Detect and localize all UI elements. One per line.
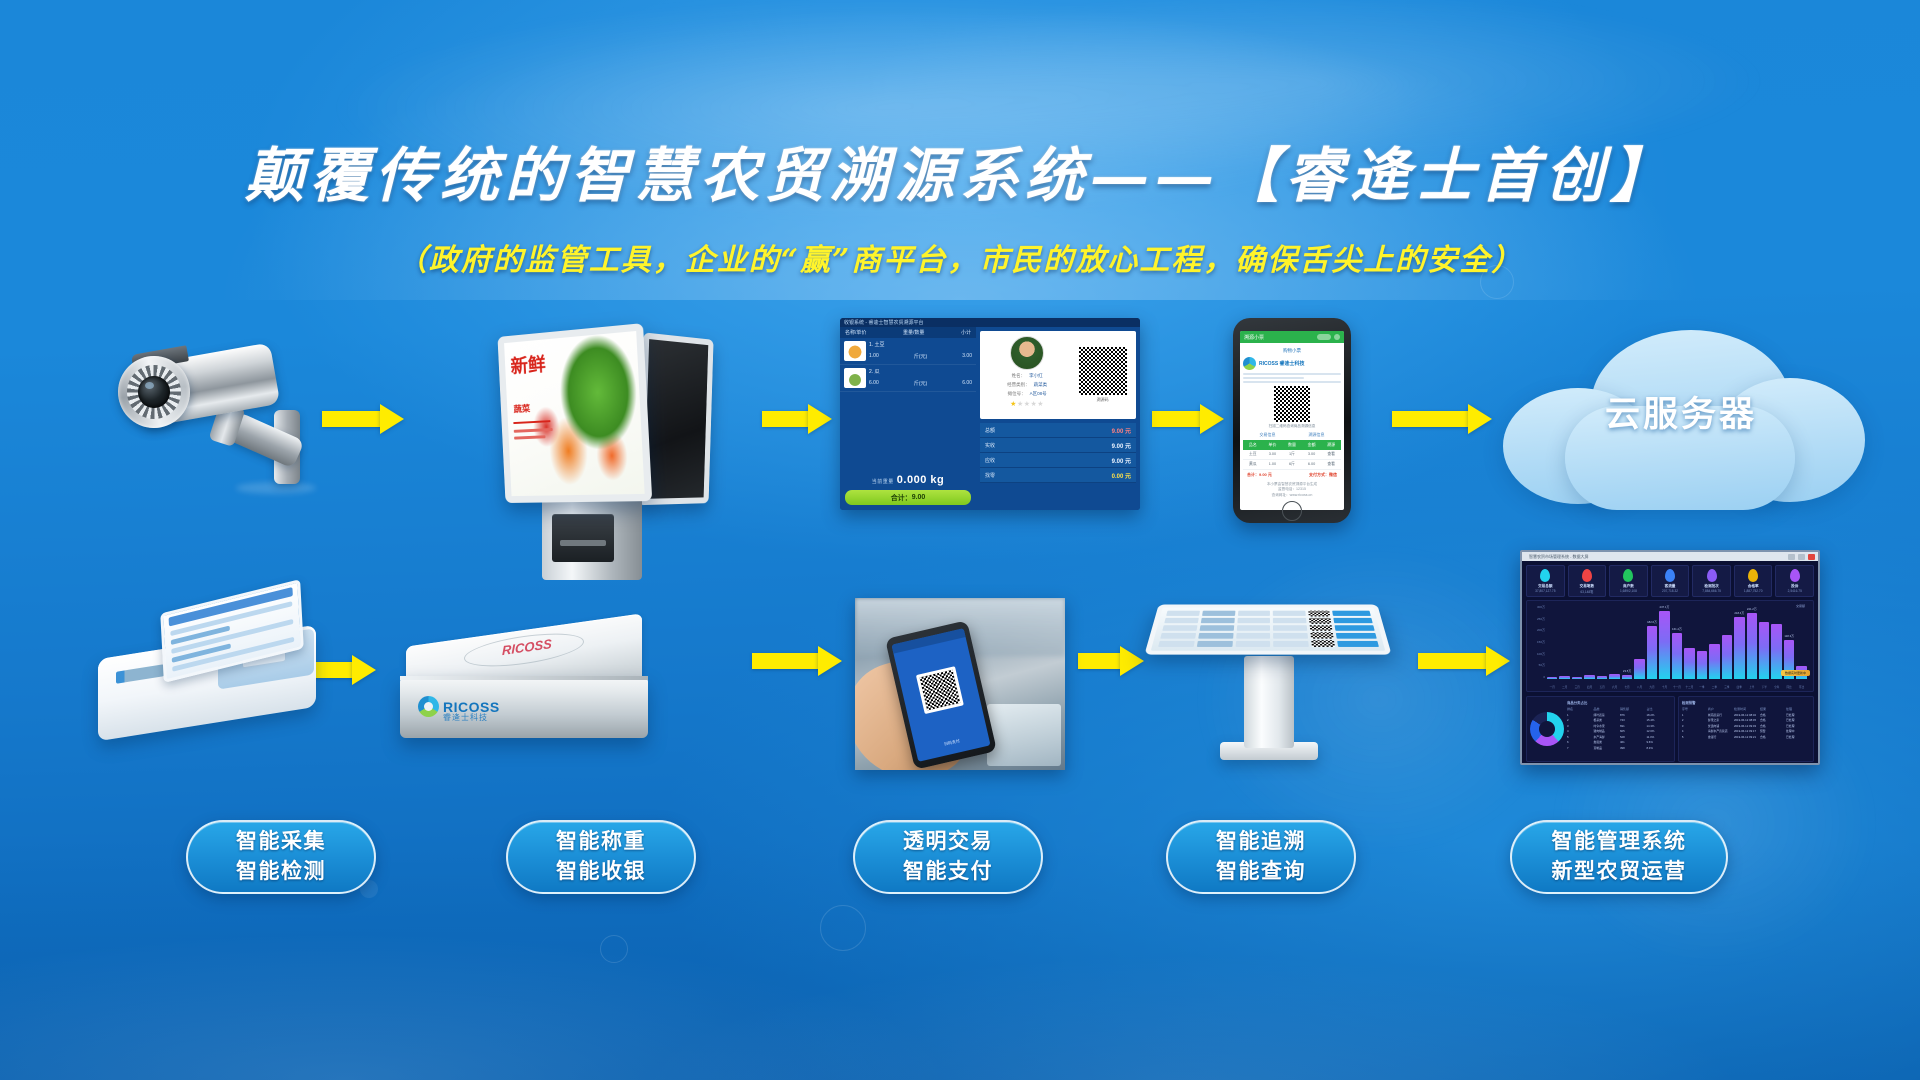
chart-bar bbox=[1559, 676, 1569, 679]
payment-qr-wrap bbox=[916, 666, 964, 714]
info-line bbox=[1243, 373, 1341, 375]
td-qty: 6斤 bbox=[1282, 460, 1302, 469]
table-cell: 合格 bbox=[1760, 724, 1784, 728]
field-label: 姓名： bbox=[1012, 373, 1026, 379]
td-name: 黄瓜 bbox=[1243, 460, 1263, 469]
vendor-avatar bbox=[1010, 336, 1044, 370]
x-tick: 九月 bbox=[1647, 685, 1657, 689]
stage-label-transaction: 透明交易 智能支付 bbox=[853, 820, 1043, 894]
col-price: 小计 bbox=[961, 329, 971, 336]
arrow-head bbox=[808, 404, 832, 434]
item-qty: 1.00 bbox=[869, 353, 879, 360]
stat-bulb-icon bbox=[1748, 569, 1758, 582]
x-tick: 十二月 bbox=[1684, 685, 1694, 689]
payment-qr-code bbox=[920, 670, 961, 711]
receipt-info-lines bbox=[1243, 373, 1341, 383]
y-tick: 250万 bbox=[1537, 617, 1545, 621]
pos-summary-rows: 总额 9.00 元 实收 9.00 元 应收 9.00 元 找零 0.00 元 bbox=[980, 423, 1136, 483]
table-cell: 1 bbox=[1567, 713, 1591, 717]
scale-brand-name-cn: 睿逄士科技 bbox=[443, 712, 488, 723]
table-row: 1绿叶蔬菜87618.2% bbox=[1567, 713, 1671, 717]
summary-value: 9.00 元 bbox=[1112, 441, 1131, 450]
weight-label: 当前重量 bbox=[872, 479, 894, 485]
cart-row[interactable]: 1. 土豆 1.00 斤(元) 3.00 bbox=[840, 338, 976, 365]
arrow-head bbox=[818, 646, 842, 676]
table-row: 1城南蔬菜行2019-06-12 08:32合格已处理 bbox=[1682, 713, 1810, 717]
chart-y-axis: 300万 250万 200万 150万 100万 50万 0 bbox=[1529, 605, 1545, 679]
info-line bbox=[1243, 381, 1341, 383]
tab-transaction[interactable]: 交易信息 bbox=[1260, 432, 1276, 438]
table-cell: 2 bbox=[1567, 718, 1591, 722]
app-header-bar: 溯源小票 bbox=[1240, 331, 1344, 343]
chart-bar bbox=[1759, 622, 1769, 679]
chart-bar: 161.2万 bbox=[1672, 633, 1682, 679]
table-row: 3时令水果69114.3% bbox=[1567, 724, 1671, 728]
x-tick: 下半 bbox=[1759, 685, 1769, 689]
x-tick: 六月 bbox=[1609, 685, 1619, 689]
y-tick: 100万 bbox=[1537, 652, 1545, 656]
bar-value-label: 182.6万 bbox=[1647, 620, 1657, 624]
arrow-scale-to-payment bbox=[752, 646, 842, 676]
category-donut-chart bbox=[1530, 712, 1564, 746]
item-thumbnail bbox=[844, 341, 866, 361]
kiosk-button[interactable] bbox=[1333, 618, 1372, 623]
app-body: 购物小票 RICOSS 睿逄士科技 扫描二维码查询商品溯源信息 交易信息 溯源信… bbox=[1240, 343, 1344, 503]
table-cell: 时令水果 bbox=[1593, 724, 1617, 728]
item-amount: 6.00 bbox=[962, 380, 972, 387]
x-tick: 二月 bbox=[1559, 685, 1569, 689]
table-cell: 9.6% bbox=[1646, 740, 1670, 744]
stat-card[interactable]: 商户数 1,689/2,108 bbox=[1609, 565, 1648, 597]
chart-bar bbox=[1584, 675, 1594, 679]
phone-screen: 溯源小票 购物小票 RICOSS 睿逄士科技 bbox=[1240, 331, 1344, 510]
maximize-icon[interactable] bbox=[1798, 554, 1805, 560]
chart-bar bbox=[1722, 635, 1732, 679]
pos-checkout-software-screen: 收银系统 - 睿逄士智慧农贸溯源平台 名称/单价 重量/数量 小计 1. 土豆 … bbox=[840, 318, 1140, 510]
table-cell: 优选肉铺 bbox=[1708, 724, 1732, 728]
receipt-footer: 本小票由智慧农贸溯源平台生成 监督电话：12315 查询网址：www.ricos… bbox=[1243, 480, 1341, 500]
grid-cell bbox=[1202, 611, 1235, 616]
chart-bar bbox=[1597, 676, 1607, 679]
table-row: 2根茎类74315.4% bbox=[1567, 718, 1671, 722]
table-cell: 2019-06-12 09:03 bbox=[1734, 724, 1758, 728]
dashboard-bottom-panels: 商品分类占比 排名品类销售额占比1绿叶蔬菜87618.2%2根茎类74315.4… bbox=[1526, 696, 1814, 762]
alert-table: 序号商户检测时间结果处理1城南蔬菜行2019-06-12 08:32合格已处理2… bbox=[1682, 707, 1810, 739]
x-tick: 三月 bbox=[1572, 685, 1582, 689]
app-brand-name: RICOSS 睿逄士科技 bbox=[1259, 360, 1305, 367]
label-line2: 智能查询 bbox=[1216, 857, 1306, 887]
alert-panel: 检测预警 序号商户检测时间结果处理1城南蔬菜行2019-06-12 08:32合… bbox=[1678, 696, 1814, 762]
vendor-field: 经营类别： 蔬菜类 bbox=[985, 382, 1069, 388]
table-row: 5水产海鲜52811.0% bbox=[1567, 735, 1671, 739]
stat-value: 37,807,127.75 bbox=[1535, 589, 1555, 593]
stat-value: 2,5416.75 bbox=[1788, 589, 1802, 593]
table-cell: 2 bbox=[1682, 718, 1706, 722]
table-cell: 海鲜水产直营店 bbox=[1708, 729, 1732, 733]
table-cell: 15.4% bbox=[1646, 718, 1670, 722]
y-tick: 200万 bbox=[1537, 628, 1545, 632]
chart-bar bbox=[1684, 648, 1694, 679]
chart-x-axis: 一月二月三月四月五月六月七月八月九月十月十一月十二月一季二季三季四季上半下半全年… bbox=[1547, 685, 1807, 689]
table-cell: 根茎类 bbox=[1593, 718, 1617, 722]
table-row: 4海鲜水产直营店2019-06-12 09:17预警处理中 bbox=[1682, 729, 1810, 733]
table-cell: 12.6% bbox=[1646, 729, 1670, 733]
summary-label: 应收 bbox=[985, 457, 995, 464]
stat-bulb-icon bbox=[1665, 569, 1675, 582]
field-value: A区08号 bbox=[1030, 391, 1047, 397]
table-cell: 2019-06-12 09:21 bbox=[1734, 735, 1758, 739]
x-tick: 一季 bbox=[1697, 685, 1707, 689]
table-row: 5禽蛋行2019-06-12 09:21合格已处理 bbox=[1682, 735, 1810, 739]
kiosk-stem bbox=[1244, 656, 1294, 748]
chart-bar: 182.6万 bbox=[1647, 626, 1657, 679]
table-header-cell: 结果 bbox=[1760, 707, 1784, 711]
app-header-title: 溯源小票 bbox=[1244, 334, 1264, 341]
table-cell: 绿叶蔬菜 bbox=[1593, 713, 1617, 717]
field-value: 蔬菜类 bbox=[1034, 382, 1048, 388]
table-row: 3优选肉铺2019-06-12 09:03合格已处理 bbox=[1682, 724, 1810, 728]
receipt-tabs[interactable]: 交易信息 溯源信息 bbox=[1243, 432, 1341, 438]
grid-cell bbox=[1273, 641, 1308, 647]
table-cell: 已处理 bbox=[1786, 718, 1810, 722]
field-label: 摊位号： bbox=[1008, 391, 1026, 397]
summary-row: 实收 9.00 元 bbox=[980, 438, 1136, 453]
camera-lens bbox=[138, 376, 170, 408]
ad-rule bbox=[513, 420, 550, 424]
chart-bar bbox=[1634, 659, 1644, 679]
x-tick: 上半 bbox=[1747, 685, 1757, 689]
arrow-head bbox=[1486, 646, 1510, 676]
table-cell: 城南蔬菜行 bbox=[1708, 713, 1732, 717]
td-amount: 6.00 bbox=[1302, 460, 1322, 469]
col-mid: 重量/数量 bbox=[903, 329, 924, 336]
page-title: 颠覆传统的智慧农贸溯源系统——【睿逄士首创】 bbox=[0, 128, 1920, 213]
info-line bbox=[1243, 377, 1304, 379]
table-row: 6禽蛋类4619.6% bbox=[1567, 740, 1671, 744]
table-cell: 预警 bbox=[1760, 729, 1784, 733]
tab-traceability[interactable]: 溯源信息 bbox=[1309, 432, 1325, 438]
table-cell: 743 bbox=[1620, 718, 1644, 722]
dashboard-stat-cards: 交易总额 37,807,127.75 交易笔数 63,148笔 商户数 1,68… bbox=[1522, 561, 1818, 600]
kiosk-qr-code bbox=[1311, 640, 1335, 647]
item-name: 1. 土豆 bbox=[869, 341, 972, 348]
pos-window-title: 收银系统 - 睿逄士智慧农贸溯源平台 bbox=[844, 319, 923, 326]
pos-weight-readout: 当前重量0.000 kg bbox=[840, 474, 976, 486]
minimize-icon[interactable] bbox=[1788, 554, 1795, 560]
kiosk-button[interactable] bbox=[1335, 625, 1375, 631]
stat-value: 1,689/2,108 bbox=[1620, 589, 1637, 593]
chart-bar bbox=[1609, 674, 1619, 679]
kiosk-qr-code bbox=[1310, 632, 1333, 638]
chart-bar bbox=[1709, 644, 1719, 679]
table-cell: 合格 bbox=[1760, 718, 1784, 722]
grid-cell bbox=[1237, 611, 1270, 616]
chart-bar: 237.1万 bbox=[1659, 611, 1669, 679]
stat-card[interactable]: 交易总额 37,807,127.75 bbox=[1526, 565, 1565, 597]
item-qty: 6.00 bbox=[869, 380, 879, 387]
receipt-title: 购物小票 bbox=[1243, 348, 1341, 354]
table-row: 4猪肉制品60512.6% bbox=[1567, 729, 1671, 733]
arrow-shaft bbox=[1152, 411, 1202, 427]
table-cell: 已处理 bbox=[1786, 713, 1810, 717]
stat-card[interactable]: 交易笔数 63,148笔 bbox=[1568, 565, 1607, 597]
grid-cell bbox=[1198, 633, 1233, 639]
table-cell: 14.3% bbox=[1646, 724, 1670, 728]
bar-value-label: 241.2万 bbox=[1747, 607, 1757, 611]
app-close-icon[interactable] bbox=[1334, 334, 1340, 340]
stat-value: 207,718.32 bbox=[1662, 589, 1678, 593]
table-header-cell: 商户 bbox=[1708, 707, 1732, 711]
app-menu-pill-icon[interactable] bbox=[1317, 334, 1331, 340]
arrow-shaft bbox=[1418, 653, 1488, 669]
app-brand: RICOSS 睿逄士科技 bbox=[1243, 357, 1341, 370]
table-header-row: 排名品类销售额占比 bbox=[1567, 707, 1671, 711]
qr-caption: 溯源码 bbox=[1097, 397, 1109, 403]
stat-card[interactable]: 投诉 2,5416.75 bbox=[1775, 565, 1814, 597]
table-row: 2鲜果之家2019-06-12 08:45合格已处理 bbox=[1682, 718, 1810, 722]
arrow-shaft bbox=[322, 411, 382, 427]
x-tick: 八月 bbox=[1634, 685, 1644, 689]
x-tick: 二季 bbox=[1709, 685, 1719, 689]
chart-bar: 218.4万 bbox=[1734, 617, 1744, 679]
table-cell: 2019-06-12 08:32 bbox=[1734, 713, 1758, 717]
table-header-cell: 处理 bbox=[1786, 707, 1810, 711]
chart-bar bbox=[1697, 651, 1707, 679]
table-cell: 461 bbox=[1620, 740, 1644, 744]
grid-cell bbox=[1273, 625, 1307, 631]
header: 颠覆传统的智慧农贸溯源系统——【睿逄士首创】 （政府的监管工具，企业的“赢”商平… bbox=[0, 128, 1920, 279]
bar-value-label: 161.2万 bbox=[1672, 627, 1682, 631]
stat-card[interactable]: 客流量 207,718.32 bbox=[1651, 565, 1690, 597]
table-cell: 1 bbox=[1682, 713, 1706, 717]
table-cell: 18.2% bbox=[1646, 713, 1670, 717]
arrow-kiosk-to-dashboard bbox=[1418, 646, 1510, 676]
grid-cell bbox=[1197, 641, 1233, 647]
x-tick: 环比 bbox=[1796, 685, 1806, 689]
category-panel: 商品分类占比 排名品类销售额占比1绿叶蔬菜87618.2%2根茎类74315.4… bbox=[1526, 696, 1675, 762]
arrow-head bbox=[1468, 404, 1492, 434]
table-cell: 已处理 bbox=[1786, 724, 1810, 728]
ad-fineprint bbox=[514, 435, 545, 439]
arrow-head bbox=[352, 655, 376, 685]
y-tick: 50万 bbox=[1539, 663, 1545, 667]
scale-trim-stripe bbox=[400, 676, 648, 680]
vendor-field: 姓名： 李小红 bbox=[985, 373, 1069, 379]
stage-label-management: 智能管理系统 新型农贸运营 bbox=[1510, 820, 1728, 894]
table-header-cell: 品类 bbox=[1593, 707, 1617, 711]
table-header-cell: 检测时间 bbox=[1734, 707, 1758, 711]
th-price: 单价 bbox=[1263, 440, 1283, 450]
stat-bulb-icon bbox=[1623, 569, 1633, 582]
dashboard-update-badge: 数据实时更新中 bbox=[1781, 670, 1810, 676]
pos-window-titlebar: 收银系统 - 睿逄士智慧农贸溯源平台 bbox=[840, 318, 1140, 327]
x-tick: 全年 bbox=[1771, 685, 1781, 689]
chart-legend: 交易额 bbox=[1796, 604, 1805, 608]
ad-fineprint bbox=[514, 428, 553, 433]
bubble-decor bbox=[600, 935, 628, 963]
td-price: 3.00 bbox=[1263, 450, 1283, 459]
arrow-checkout-to-phone bbox=[1152, 404, 1224, 434]
item-name: 2. 瓜 bbox=[869, 368, 972, 375]
dual-screen-pos-terminal: 新鲜 蔬菜 bbox=[490, 318, 750, 638]
summary-method: 支付方式：微信 bbox=[1309, 472, 1337, 478]
food-safety-detector bbox=[90, 600, 345, 740]
grid-cell bbox=[1236, 625, 1270, 631]
cloud-server: 云服务器 bbox=[1503, 330, 1920, 520]
photo-goods bbox=[987, 704, 1061, 766]
vendor-rating-stars: ★★★★★ bbox=[1010, 400, 1044, 408]
arrow-shaft bbox=[1078, 653, 1122, 669]
table-cell: 2019-06-12 09:17 bbox=[1734, 729, 1758, 733]
x-tick: 一月 bbox=[1547, 685, 1557, 689]
table-cell: 禽蛋类 bbox=[1593, 740, 1617, 744]
smart-weighing-scale: RICOSS RICOSS 睿逄士科技 bbox=[388, 630, 678, 760]
field-label: 经营类别： bbox=[1007, 382, 1030, 388]
table-header-cell: 占比 bbox=[1646, 707, 1670, 711]
table-cell: 2019-06-12 08:45 bbox=[1734, 718, 1758, 722]
dashboard-window-title: 智慧农贸市场管理系统 - 数据大屏 bbox=[1525, 554, 1589, 560]
table-cell: 876 bbox=[1620, 713, 1644, 717]
kiosk-qr-column bbox=[1308, 611, 1379, 647]
table-header-cell: 排名 bbox=[1567, 707, 1591, 711]
y-tick: 150万 bbox=[1537, 640, 1545, 644]
label-line1: 智能追溯 bbox=[1216, 827, 1306, 857]
pos-receipt-printer bbox=[552, 514, 614, 562]
receipt-qr-caption: 扫描二维码查询商品溯源信息 bbox=[1243, 424, 1341, 429]
receipt-summary: 合计：9.00 元 支付方式：微信 bbox=[1243, 470, 1341, 480]
grid-cell bbox=[1235, 641, 1270, 647]
stat-value: 63,148笔 bbox=[1580, 589, 1593, 594]
table-cell: 5 bbox=[1567, 735, 1591, 739]
cctv-camera-icon bbox=[96, 332, 311, 517]
stat-value: 7,884,666.75 bbox=[1702, 589, 1721, 593]
ricoss-ring-icon bbox=[418, 696, 439, 717]
chart-bar: 241.2万 bbox=[1747, 613, 1757, 679]
summary-value: 0.00 元 bbox=[1112, 471, 1131, 480]
kiosk-screen[interactable] bbox=[1144, 604, 1391, 654]
stat-value: 1,887,752.70 bbox=[1744, 589, 1763, 593]
pos-cart-panel: 名称/单价 重量/数量 小计 1. 土豆 1.00 斤(元) 3.00 2. 瓜… bbox=[840, 327, 976, 510]
table-cell: 11.0% bbox=[1646, 735, 1670, 739]
arrow-pos-to-checkout bbox=[762, 404, 832, 434]
grid-cell bbox=[1164, 618, 1198, 623]
weight-value: 0.000 kg bbox=[897, 474, 944, 486]
x-tick: 七月 bbox=[1622, 685, 1632, 689]
table-cell: 禽蛋行 bbox=[1708, 735, 1732, 739]
grid-cell bbox=[1273, 633, 1308, 639]
x-tick: 十一月 bbox=[1672, 685, 1682, 689]
td-trace-link[interactable]: 查看 bbox=[1321, 450, 1341, 459]
label-line1: 智能管理系统 bbox=[1552, 827, 1687, 857]
cart-row[interactable]: 2. 瓜 6.00 斤(元) 6.00 bbox=[840, 365, 976, 392]
grid-cell bbox=[1273, 611, 1306, 616]
table-cell: 合格 bbox=[1760, 713, 1784, 717]
close-icon[interactable] bbox=[1808, 554, 1815, 560]
table-cell: 8.3% bbox=[1646, 746, 1670, 750]
td-name: 土豆 bbox=[1243, 450, 1263, 459]
summary-total: 合计：9.00 元 bbox=[1247, 472, 1272, 478]
chart-bar: 23.5万 bbox=[1622, 675, 1632, 679]
category-table: 排名品类销售额占比1绿叶蔬菜87618.2%2根茎类74315.4%3时令水果6… bbox=[1567, 707, 1671, 750]
grid-cell bbox=[1236, 633, 1271, 639]
pos-main-display: 新鲜 蔬菜 bbox=[497, 323, 652, 503]
kiosk-action-buttons[interactable] bbox=[1332, 611, 1379, 647]
td-qty: 1斤 bbox=[1282, 450, 1302, 459]
table-cell: 4 bbox=[1567, 729, 1591, 733]
table-cell: 605 bbox=[1620, 729, 1644, 733]
bar-value-label: 218.4万 bbox=[1734, 611, 1744, 615]
payment-caption: 扫码支付 bbox=[915, 731, 988, 753]
arrow-head bbox=[1120, 646, 1144, 676]
x-tick: 十月 bbox=[1659, 685, 1669, 689]
table-cell: 4 bbox=[1682, 729, 1706, 733]
total-value: 9.00 bbox=[912, 494, 926, 501]
table-cell: 691 bbox=[1620, 724, 1644, 728]
stat-bulb-icon bbox=[1582, 569, 1592, 582]
td-trace-link[interactable]: 查看 bbox=[1321, 460, 1341, 469]
chart-bar bbox=[1547, 677, 1557, 679]
arrow-camera-to-pos bbox=[322, 404, 404, 434]
stage-label-traceability: 智能追溯 智能查询 bbox=[1166, 820, 1356, 894]
vendor-qr-block: 溯源码 bbox=[1074, 336, 1131, 414]
stage-label-weighing: 智能称重 智能收银 bbox=[506, 820, 696, 894]
bubble-decor bbox=[820, 905, 866, 951]
label-line2: 新型农贸运营 bbox=[1552, 857, 1687, 887]
receipt-table-header: 品名 单价 数量 金额 溯源 bbox=[1243, 440, 1341, 450]
ricoss-logo-icon bbox=[1243, 357, 1256, 370]
x-tick: 四月 bbox=[1584, 685, 1594, 689]
label-line2: 智能检测 bbox=[236, 857, 326, 887]
summary-row: 找零 0.00 元 bbox=[980, 468, 1136, 483]
kiosk-button[interactable] bbox=[1336, 633, 1377, 639]
y-tick: 300万 bbox=[1537, 605, 1545, 609]
kiosk-button[interactable] bbox=[1337, 641, 1379, 647]
cloud-server-label: 云服务器 bbox=[1503, 386, 1859, 437]
y-tick: 0 bbox=[1543, 675, 1545, 679]
ad-subtitle: 蔬菜 bbox=[513, 402, 530, 416]
scale-brand-logo: RICOSS 睿逄士科技 bbox=[418, 696, 500, 717]
page-subtitle: （政府的监管工具，企业的“赢”商平台，市民的放心工程，确保舌尖上的安全） bbox=[0, 235, 1920, 279]
grid-cell bbox=[1273, 618, 1306, 623]
receipt-qr-code[interactable] bbox=[1274, 386, 1310, 422]
smartphone-traceability-app: 溯源小票 购物小票 RICOSS 睿逄士科技 bbox=[1233, 318, 1351, 523]
table-cell: 猪肉制品 bbox=[1593, 729, 1617, 733]
alert-panel-title: 检测预警 bbox=[1682, 700, 1810, 705]
footer-line: 查询网址：www.ricoss.cn bbox=[1245, 493, 1339, 498]
grid-cell bbox=[1201, 618, 1235, 623]
arrow-shaft bbox=[762, 411, 810, 427]
stat-card[interactable]: 检测批次 7,884,666.75 bbox=[1692, 565, 1731, 597]
table-header-row: 序号商户检测时间结果处理 bbox=[1682, 707, 1810, 711]
grid-cell bbox=[1160, 633, 1196, 639]
grid-cell bbox=[1158, 641, 1194, 647]
table-cell: 3 bbox=[1567, 724, 1591, 728]
stat-card[interactable]: 合格率 1,887,752.70 bbox=[1734, 565, 1773, 597]
kiosk-button[interactable] bbox=[1332, 611, 1371, 616]
pos-total-button[interactable]: 合计：9.00 bbox=[845, 490, 971, 505]
td-price: 1.00 bbox=[1263, 460, 1283, 469]
item-thumbnail bbox=[844, 368, 866, 388]
grid-cell bbox=[1162, 625, 1197, 631]
th-trace: 溯源 bbox=[1321, 440, 1341, 450]
table-row: 7豆制品3988.3% bbox=[1567, 746, 1671, 750]
arrow-payment-to-kiosk bbox=[1078, 646, 1144, 676]
item-unit: 斤(元) bbox=[914, 353, 927, 360]
pos-cart-header: 名称/单价 重量/数量 小计 bbox=[840, 327, 976, 338]
grid-cell bbox=[1199, 625, 1233, 631]
arrow-head bbox=[1200, 404, 1224, 434]
phone-home-button[interactable] bbox=[1282, 501, 1302, 521]
